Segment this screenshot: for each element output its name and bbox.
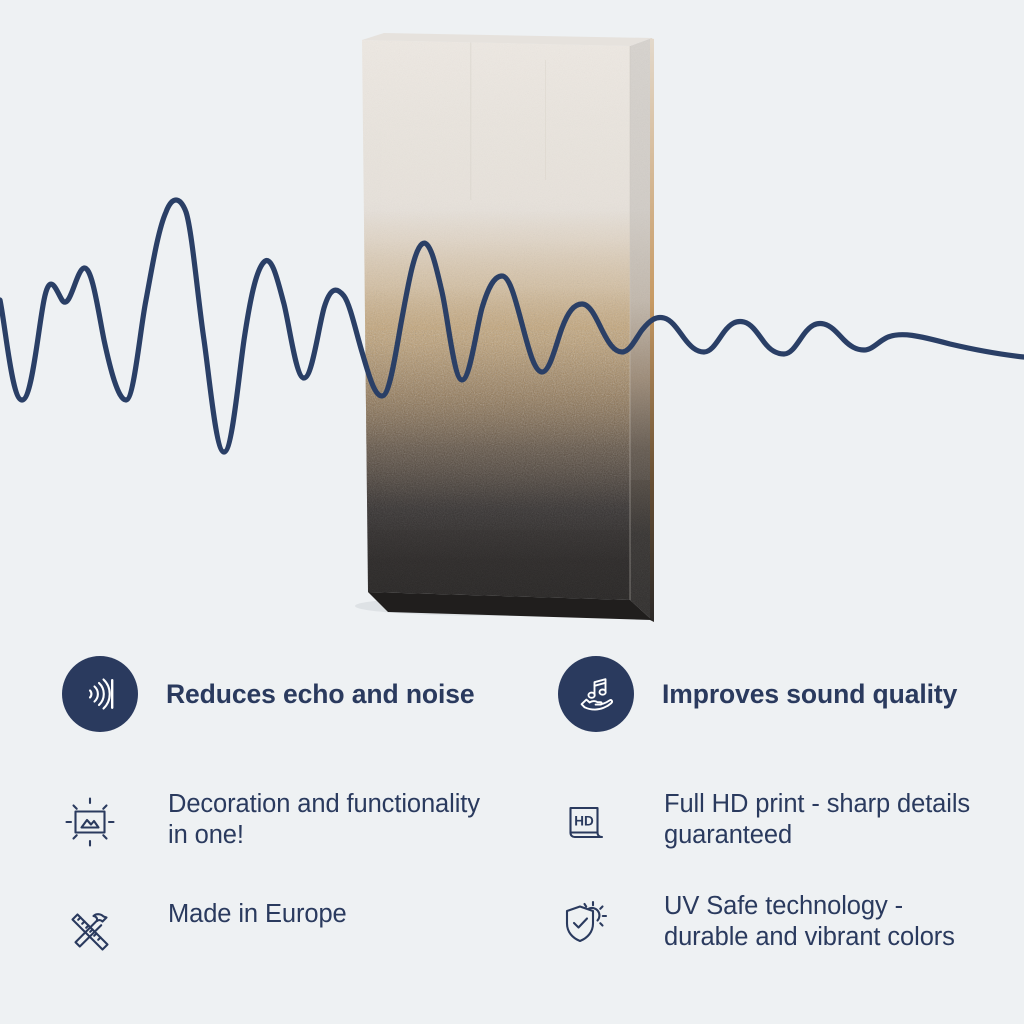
feature-primary-reduces-echo[interactable]: Reduces echo and noise: [62, 656, 475, 732]
feature-secondary-uv-safe[interactable]: UV Safe technology - durable and vibrant…: [556, 894, 955, 954]
hammer-ruler-icon: [60, 902, 120, 962]
feature-label: UV Safe technology - durable and vibrant…: [664, 891, 955, 953]
sound-waves-panel-icon: [62, 656, 138, 732]
feature-label-line2: guaranteed: [664, 820, 970, 851]
feature-secondary-decoration[interactable]: Decoration and functionality in one!: [60, 792, 480, 852]
feature-label-line2: in one!: [168, 820, 480, 851]
feature-primary-sound-quality[interactable]: Improves sound quality: [558, 656, 957, 732]
feature-label-line1: Full HD print - sharp details: [664, 790, 970, 818]
feature-label: Improves sound quality: [662, 679, 957, 710]
feature-label-line1: Decoration and functionality: [168, 790, 480, 818]
framed-picture-shine-icon: [60, 792, 120, 852]
feature-label-line1: Made in Europe: [168, 900, 347, 928]
feature-label: Reduces echo and noise: [166, 679, 475, 710]
uv-shield-sun-icon: [556, 894, 616, 954]
hd-print-icon: HD: [556, 792, 616, 852]
hand-music-note-icon: [558, 656, 634, 732]
feature-label-line1: UV Safe technology -: [664, 892, 903, 920]
svg-text:HD: HD: [574, 814, 594, 829]
feature-label-line2: durable and vibrant colors: [664, 922, 955, 953]
feature-secondary-hd-print[interactable]: HD Full HD print - sharp details guarant…: [556, 792, 970, 852]
feature-label: Decoration and functionality in one!: [168, 789, 480, 851]
feature-secondary-made-in-europe[interactable]: Made in Europe: [60, 902, 347, 962]
feature-label: Full HD print - sharp details guaranteed: [664, 789, 970, 851]
feature-label: Made in Europe: [168, 899, 347, 930]
canvas-face: [360, 36, 635, 606]
promo-image: Reduces echo and noise Improves s: [0, 0, 1024, 1024]
feature-list: Reduces echo and noise Improves s: [0, 636, 1024, 1024]
